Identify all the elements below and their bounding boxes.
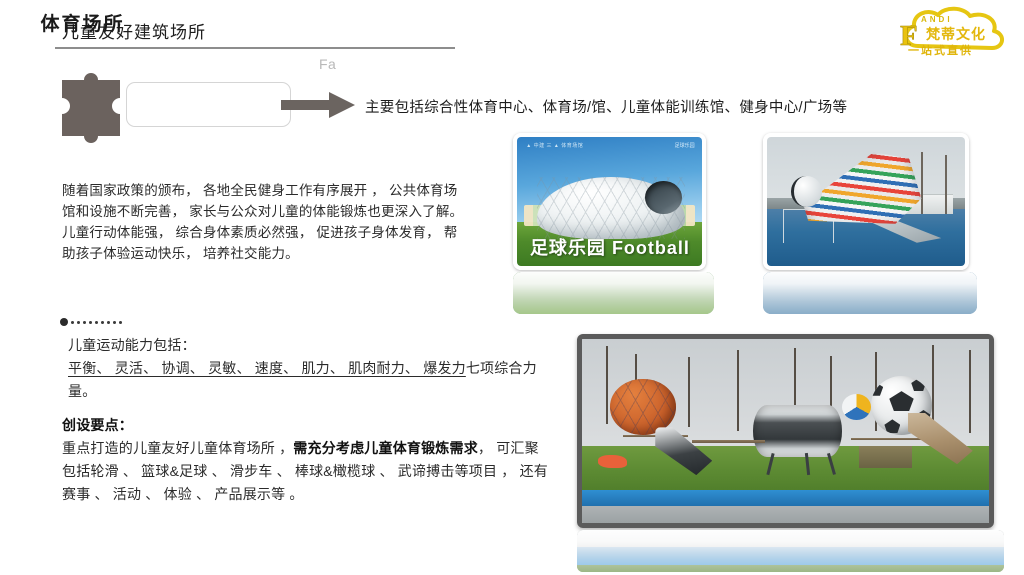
photo-football-park: ▲ 中建 三 ▲ 体育场馆 足球乐园 足球乐园 Football (513, 133, 706, 270)
brand-logo: F ANDI 梵蒂文化 一站式直供 (894, 2, 1016, 60)
logo-chinese-text: 梵蒂文化 (926, 24, 986, 44)
points-section: 创设要点： 重点打造的儿童友好儿童体育场所 ，需充分考虑儿童体育锻炼需求， 可汇… (62, 414, 552, 506)
photo3-basketball-structure (610, 379, 675, 434)
photo3-play-element (598, 455, 626, 468)
points-body: 重点打造的儿童友好儿童体育场所 ，需充分考虑儿童体育锻炼需求， 可汇聚包括轮滑 … (62, 437, 552, 506)
ability-heading: 儿童运动能力包括： (68, 334, 554, 357)
photo3-volleyball-structure (842, 394, 870, 420)
photo3-foreground (582, 506, 989, 523)
logo-tagline: 一站式直供 (908, 42, 973, 58)
photo-sports-playground (577, 334, 994, 528)
slide-canvas: 儿童友好建筑场所 Fa F ANDI 梵蒂文化 一站式直供 2 体育场所 主要包… (0, 0, 1024, 575)
ability-body: 平衡、 灵活、 协调、 灵敏、 速度、 肌力、 肌肉耐力、 爆发力七项综合力量。 (68, 357, 554, 403)
section-chip-label: 体育场所 (0, 0, 165, 45)
watermark-text: Fa (319, 56, 336, 72)
section-chip (126, 82, 291, 127)
photo3-reflection (577, 530, 1004, 572)
photo3-blue-track (582, 490, 989, 507)
photo1-logo-right: 足球乐园 (675, 142, 695, 149)
arrow-right-icon (281, 92, 355, 118)
photo-shuttlecock-slide (763, 133, 969, 270)
photo1-logo-left: ▲ 中建 三 ▲ 体育场馆 (526, 142, 583, 149)
ability-list: 平衡、 灵活、 协调、 灵敏、 速度、 肌力、 肌肉耐力、 爆发力 (68, 360, 466, 376)
photo1-dome-aperture (645, 181, 682, 215)
points-text-1: 重点打造的儿童友好儿童体育场所 ， (62, 440, 293, 456)
photo3-barrel-structure (753, 405, 843, 457)
photo1-reflection (513, 272, 714, 314)
points-heading: 创设要点： (62, 414, 552, 437)
photo1-caption: 足球乐园 Football (530, 234, 700, 260)
section-description: 主要包括综合性体育中心、体育场/馆、儿童体能训练馆、健身中心/广场等 (365, 96, 847, 117)
intro-paragraph: 随着国家政策的颁布， 各地全民健身工作有序展开 ， 公共体育场馆和设施不断完善，… (62, 180, 467, 264)
points-text-bold: 需充分考虑儿童体育锻炼需求 (293, 440, 478, 456)
bullet-dot-decoration (60, 316, 140, 328)
logo-latin-text: ANDI (921, 15, 953, 24)
ability-section: 儿童运动能力包括： 平衡、 灵活、 协调、 灵敏、 速度、 肌力、 肌肉耐力、 … (68, 334, 554, 403)
photo2-shuttlecock-head (791, 176, 823, 207)
title-divider (55, 47, 455, 49)
photo2-reflection (763, 272, 977, 314)
